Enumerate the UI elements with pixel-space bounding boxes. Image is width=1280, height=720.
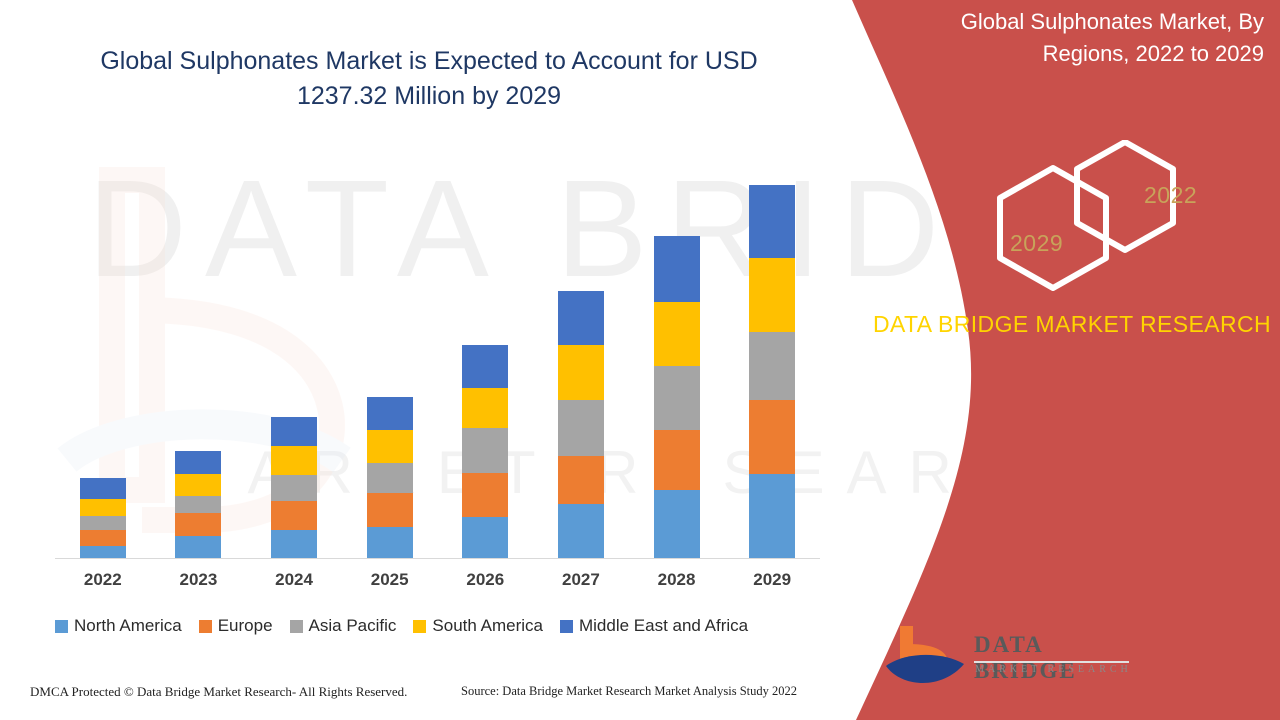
bar-segment	[749, 185, 795, 258]
bar-segment	[80, 516, 126, 530]
legend-label: South America	[432, 616, 543, 636]
logo-text-main: DATA BRIDGE	[974, 632, 1132, 684]
bar-segment	[749, 474, 795, 558]
footer-source: Source: Data Bridge Market Research Mark…	[461, 684, 797, 699]
bar-segment	[80, 546, 126, 558]
bar-segment	[175, 474, 221, 496]
hex-label-2029: 2029	[1010, 230, 1063, 257]
x-axis-label: 2026	[440, 570, 530, 590]
logo-text-sub: MARKET RESEARCH	[975, 664, 1132, 675]
legend-item: Europe	[199, 616, 273, 636]
page-title: Global Sulphonates Market is Expected to…	[64, 44, 794, 113]
bar-segment	[367, 430, 413, 463]
bar-segment	[654, 236, 700, 302]
legend-item: South America	[413, 616, 543, 636]
x-axis-label: 2025	[345, 570, 435, 590]
hexagon-badges: 2022 2029	[987, 140, 1187, 300]
bar-column	[462, 345, 508, 558]
x-axis-label: 2028	[632, 570, 722, 590]
bar-segment	[367, 463, 413, 493]
bar-segment	[175, 496, 221, 513]
x-axis-label: 2024	[249, 570, 339, 590]
legend-swatch	[560, 620, 573, 633]
legend-item: Middle East and Africa	[560, 616, 748, 636]
data-bridge-logo-icon	[882, 622, 972, 692]
stacked-bar-group	[55, 150, 820, 558]
bar-column	[558, 291, 604, 558]
bar-segment	[654, 366, 700, 430]
x-axis-line	[55, 558, 820, 559]
bar-segment	[271, 475, 317, 501]
x-axis-label: 2023	[153, 570, 243, 590]
panel-title: Global Sulphonates Market, By Regions, 2…	[904, 6, 1264, 70]
x-axis-label: 2029	[727, 570, 817, 590]
bar-segment	[367, 493, 413, 527]
legend-item: North America	[55, 616, 182, 636]
brand-name: DATA BRIDGE MARKET RESEARCH	[872, 308, 1272, 341]
bar-column	[367, 397, 413, 558]
bar-segment	[80, 499, 126, 516]
legend-item: Asia Pacific	[290, 616, 397, 636]
bar-segment	[462, 517, 508, 558]
x-axis-label: 2027	[536, 570, 626, 590]
footer-copyright: DMCA Protected © Data Bridge Market Rese…	[30, 684, 407, 700]
bar-segment	[367, 527, 413, 558]
chart-legend: North AmericaEuropeAsia PacificSouth Ame…	[55, 616, 835, 636]
company-logo: DATA BRIDGE MARKET RESEARCH	[882, 622, 1132, 694]
legend-swatch	[290, 620, 303, 633]
bar-segment	[749, 400, 795, 474]
legend-label: Middle East and Africa	[579, 616, 748, 636]
bar-segment	[462, 388, 508, 428]
bar-column	[271, 417, 317, 558]
bar-segment	[749, 332, 795, 400]
legend-label: Asia Pacific	[309, 616, 397, 636]
bar-segment	[749, 258, 795, 332]
bar-segment	[271, 530, 317, 558]
legend-label: Europe	[218, 616, 273, 636]
infographic-root: DATA BRIDGE MARKET RESEARCH Global Sulph…	[0, 0, 1280, 720]
hexagon-outline-icon	[987, 140, 1187, 300]
bar-segment	[462, 473, 508, 517]
bar-segment	[558, 345, 604, 400]
bar-segment	[654, 490, 700, 558]
red-panel-content: Global Sulphonates Market, By Regions, 2…	[852, 0, 1280, 720]
bar-segment	[271, 417, 317, 446]
bar-segment	[654, 430, 700, 490]
bar-segment	[558, 456, 604, 504]
bar-segment	[558, 400, 604, 456]
bar-segment	[175, 451, 221, 474]
bar-segment	[271, 501, 317, 530]
bar-segment	[80, 478, 126, 499]
bar-column	[175, 451, 221, 558]
x-axis-label: 2022	[58, 570, 148, 590]
bar-segment	[271, 446, 317, 475]
x-axis-labels: 20222023202420252026202720282029	[55, 570, 820, 596]
bar-segment	[175, 513, 221, 536]
hex-label-2022: 2022	[1144, 182, 1197, 209]
bar-column	[654, 236, 700, 558]
bar-segment	[654, 302, 700, 366]
bar-segment	[462, 428, 508, 473]
legend-label: North America	[74, 616, 182, 636]
legend-swatch	[413, 620, 426, 633]
bar-segment	[558, 291, 604, 345]
bar-segment	[462, 345, 508, 388]
bar-segment	[80, 530, 126, 546]
logo-divider	[974, 661, 1129, 663]
bar-column	[80, 478, 126, 558]
bar-segment	[175, 536, 221, 558]
legend-swatch	[199, 620, 212, 633]
bar-column	[749, 185, 795, 558]
bar-segment	[367, 397, 413, 430]
bar-segment	[558, 504, 604, 558]
legend-swatch	[55, 620, 68, 633]
